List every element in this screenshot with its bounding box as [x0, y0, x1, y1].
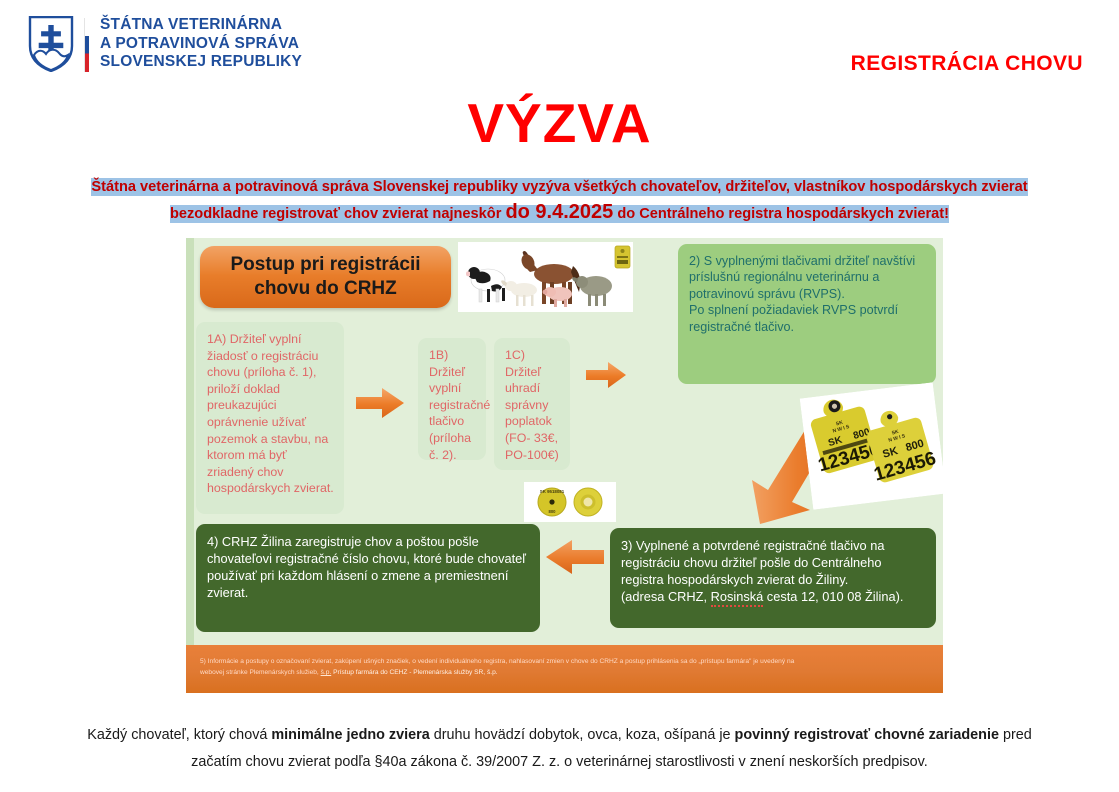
footnote-link-cehz[interactable]: Prístup farmára do CEHZ - Plemenárska sl…: [333, 669, 498, 676]
org-line-2: A POTRAVINOVÁ SPRÁVA: [100, 35, 299, 52]
callout-line-2-after: do Centrálneho registra hospodárskych zv…: [613, 206, 949, 222]
step-1b-box: 1B) Držiteľ vyplní registračné tlačivo (…: [418, 338, 486, 460]
goat-icon: [501, 280, 537, 306]
bottom-bold-1: minimálne jedno zviera: [271, 727, 429, 743]
step-1a-text: 1A) Držiteľ vyplní žiadosť o registráciu…: [207, 332, 334, 495]
document-kicker: REGISTRÁCIA CHOVU: [851, 52, 1083, 76]
step-4-text: 4) CRHZ Žilina zaregistruje chov a pošto…: [207, 534, 526, 600]
footnote-link-sp[interactable]: š.p.: [321, 669, 332, 676]
farm-animals-photo: [458, 242, 633, 312]
organization-name: ŠTÁTNA VETERINÁRNA A POTRAVINOVÁ SPRÁVA …: [100, 16, 302, 72]
arrow-right-icon: [354, 386, 406, 420]
step-4-box: 4) CRHZ Žilina zaregistruje chov a pošto…: [196, 524, 540, 632]
deadline-date: do 9.4.2025: [505, 201, 613, 223]
bottom-bold-2: povinný registrovať chovné zariadenie: [735, 727, 999, 743]
step-2-box: 2) S vyplnenými tlačivami držiteľ navští…: [678, 244, 936, 384]
page-title: VÝZVA: [0, 94, 1119, 152]
step-1c-text: 1C) Držiteľ uhradí správny poplatok (FO-…: [505, 348, 559, 462]
footnote-line-2-before: webovej stránke Plemenárskych služieb,: [200, 669, 321, 676]
callout-line-2-before: bezodkladne registrovať chov zvierat naj…: [170, 206, 505, 222]
step-2-text: 2) S vyplnenými tlačivami držiteľ navští…: [689, 254, 915, 334]
cow-icon: [466, 267, 505, 302]
step-3-line-3: registra hospodárskych zvierat do Žiliny…: [621, 572, 848, 587]
flag-accent-bar: [84, 18, 89, 72]
footnote-line-1: 5) Informácie a postupy o označovaní zvi…: [200, 658, 794, 665]
sheep-icon: [572, 276, 612, 306]
step-3-line-4-after: cesta 12, 010 08 Žilina).: [763, 589, 903, 604]
org-line-3: SLOVENSKEJ REPUBLIKY: [100, 53, 302, 70]
infographic-left-strip: [186, 238, 194, 693]
process-infographic: Postup pri registrácii chovu do CRHZ: [186, 238, 943, 693]
step-3-box: 3) Vyplnené a potvrdené registračné tlač…: [610, 528, 936, 628]
arrow-left-icon: [544, 538, 606, 576]
step-3-spellcheck-word: Rosinská: [711, 589, 764, 607]
org-line-1: ŠTÁTNA VETERINÁRNA: [100, 16, 282, 33]
pig-icon: [543, 287, 572, 307]
bottom-paragraph: Každý chovateľ, ktorý chová minimálne je…: [62, 722, 1057, 776]
ear-tag-label-icon: [615, 246, 630, 268]
ear-tag-photo: SK N W I S SK 800 123456 SK N W I S SK 8…: [800, 382, 943, 509]
slovak-coat-of-arms-icon: [28, 16, 74, 72]
svg-text:SK 9518081: SK 9518081: [540, 489, 565, 494]
step-1a-box: 1A) Držiteľ vyplní žiadosť o registráciu…: [196, 322, 344, 514]
step-1c-box: 1C) Držiteľ uhradí správny poplatok (FO-…: [494, 338, 570, 470]
infographic-footnote: 5) Informácie a postupy o označovaní zvi…: [186, 645, 943, 693]
callout-banner: Štátna veterinárna a potravinová správa …: [30, 175, 1089, 227]
step-3-line-1: 3) Vyplnené a potvrdené registračné tlač…: [621, 538, 884, 553]
ear-tag-buttons-photo: SK 9518081 800: [524, 482, 616, 522]
bottom-text-1: Každý chovateľ, ktorý chová: [87, 727, 271, 743]
bottom-text-2: druhu hovädzí dobytok, ovca, koza, ošípa…: [430, 727, 735, 743]
callout-line-1: Štátna veterinárna a potravinová správa …: [91, 178, 1027, 196]
step-3-line-2: registráciu chovu držiteľ pošle do Centr…: [621, 555, 882, 570]
infographic-banner: Postup pri registrácii chovu do CRHZ: [200, 246, 451, 308]
step-3-line-4-before: (adresa CRHZ,: [621, 589, 711, 604]
step-1b-text: 1B) Držiteľ vyplní registračné tlačivo (…: [429, 348, 490, 462]
arrow-right-icon: [584, 360, 628, 390]
page-header: ŠTÁTNA VETERINÁRNA A POTRAVINOVÁ SPRÁVA …: [0, 0, 1119, 95]
organization-logo: ŠTÁTNA VETERINÁRNA A POTRAVINOVÁ SPRÁVA …: [28, 16, 302, 72]
svg-text:800: 800: [549, 509, 557, 514]
